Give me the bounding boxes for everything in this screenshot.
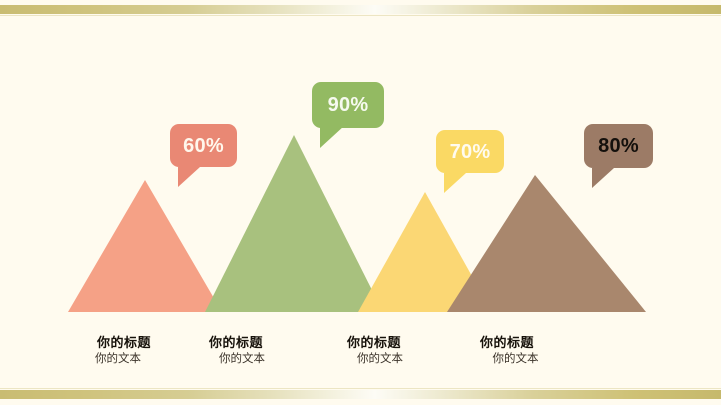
bubble-tail-3 bbox=[444, 173, 466, 193]
bubble-tail-2 bbox=[320, 126, 344, 148]
callout-bubble-4[interactable]: 80% bbox=[584, 124, 653, 168]
callout-bubble-2[interactable]: 90% bbox=[312, 82, 384, 128]
bubble-tail-4 bbox=[592, 168, 614, 188]
label-text-2: 你的文本 bbox=[173, 352, 311, 368]
callout-bubble-1[interactable]: 60% bbox=[170, 124, 237, 167]
label-title-2: 你的标题 bbox=[161, 335, 311, 351]
percent-value-3: 70% bbox=[450, 142, 491, 162]
mountain-triangle-1 bbox=[68, 180, 222, 312]
percent-value-2: 90% bbox=[328, 95, 369, 115]
label-group-3: 你的标题 你的文本 bbox=[299, 335, 449, 368]
callout-bubble-3[interactable]: 70% bbox=[436, 130, 504, 173]
percent-value-4: 80% bbox=[598, 136, 639, 156]
label-title-4: 你的标题 bbox=[432, 335, 582, 351]
label-group-4: 你的标题 你的文本 bbox=[432, 335, 582, 368]
bubble-tail-1 bbox=[178, 167, 200, 187]
label-text-4: 你的文本 bbox=[449, 352, 582, 368]
label-title-3: 你的标题 bbox=[299, 335, 449, 351]
label-group-2: 你的标题 你的文本 bbox=[161, 335, 311, 368]
mountain-triangle-4 bbox=[447, 175, 646, 312]
label-text-3: 你的文本 bbox=[311, 352, 449, 368]
percent-value-1: 60% bbox=[183, 136, 224, 156]
slide-canvas: 60% 90% 70% 80% 你的标题 你的文本 你的标题 你的文本 你的标题… bbox=[0, 0, 721, 405]
